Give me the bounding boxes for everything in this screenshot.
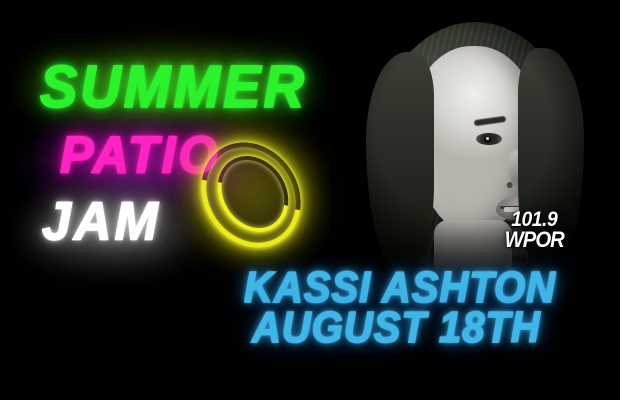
crescent-moon-icon — [204, 140, 288, 240]
event-date: AUGUST 18TH — [252, 304, 541, 353]
artist-portrait — [330, 0, 620, 290]
headline-patio: PATIO — [60, 125, 220, 185]
eyebrow-left — [474, 116, 507, 126]
hair-strand-left — [366, 52, 434, 272]
headline-jam: JAM — [42, 191, 161, 253]
headline-summer: SUMMER — [40, 52, 307, 121]
eye-left — [476, 133, 502, 145]
station-logo: 101.9 WPOR — [502, 210, 566, 251]
event-promo-poster: SUMMER PATIO JAM 101.9 WPOR KASSI ASHTON… — [0, 0, 620, 400]
station-callsign: WPOR — [505, 230, 564, 250]
